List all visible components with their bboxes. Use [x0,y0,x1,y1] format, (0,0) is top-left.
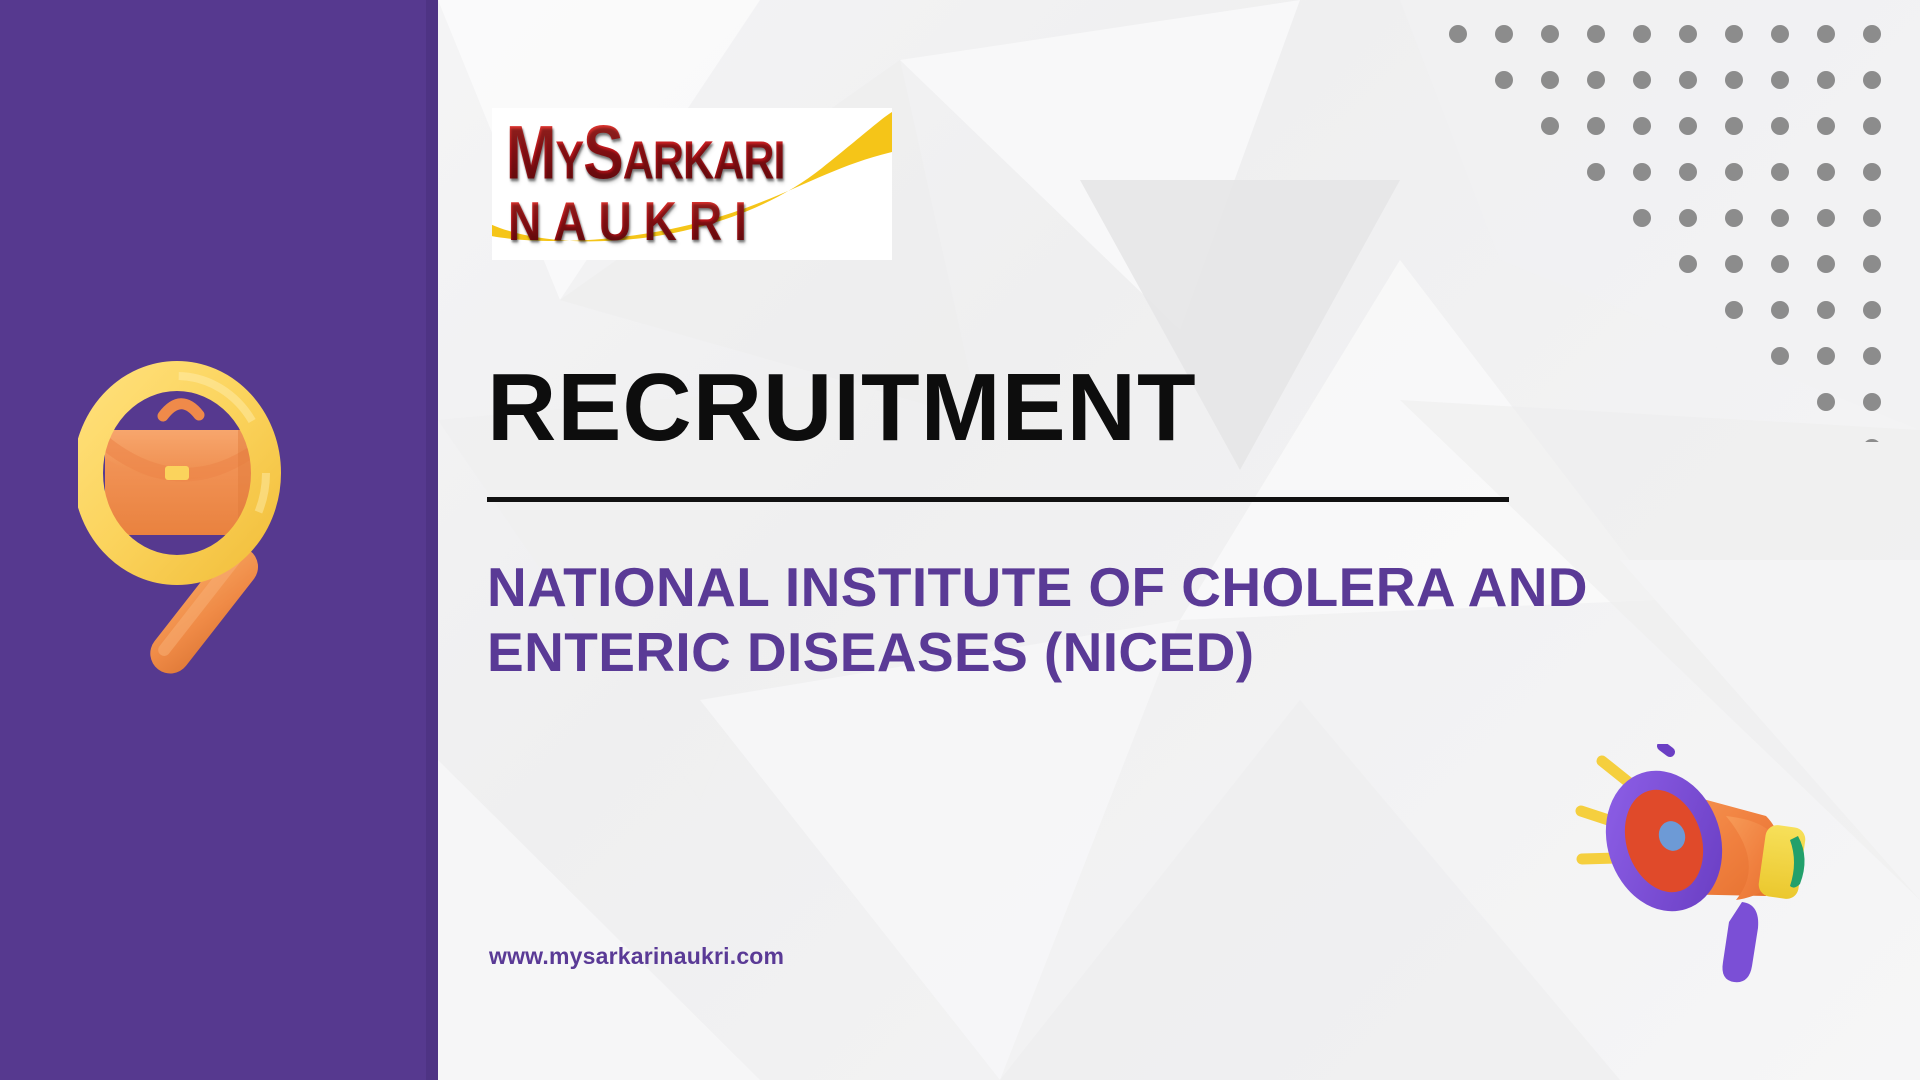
megaphone-icon [1566,744,1856,994]
sidebar-edge-stripe [426,0,438,1080]
logo-text-line1: MYSARKARI [492,119,884,189]
dot-grid-decoration [1440,22,1920,442]
organization-name: NATIONAL INSTITUTE OF CHOLERA AND ENTERI… [487,555,1717,685]
magnifier-briefcase-icon [78,338,348,708]
mysarkarinaukri-logo[interactable]: MYSARKARI NAUKRI [492,108,892,260]
title-divider [487,497,1509,502]
website-url[interactable]: www.mysarkarinaukri.com [489,943,784,970]
recruitment-banner: MYSARKARI NAUKRI RECRUITMENT NATIONAL IN… [0,0,1920,1080]
logo-text-line2: NAUKRI [492,197,892,247]
page-title: RECRUITMENT [487,360,1197,456]
